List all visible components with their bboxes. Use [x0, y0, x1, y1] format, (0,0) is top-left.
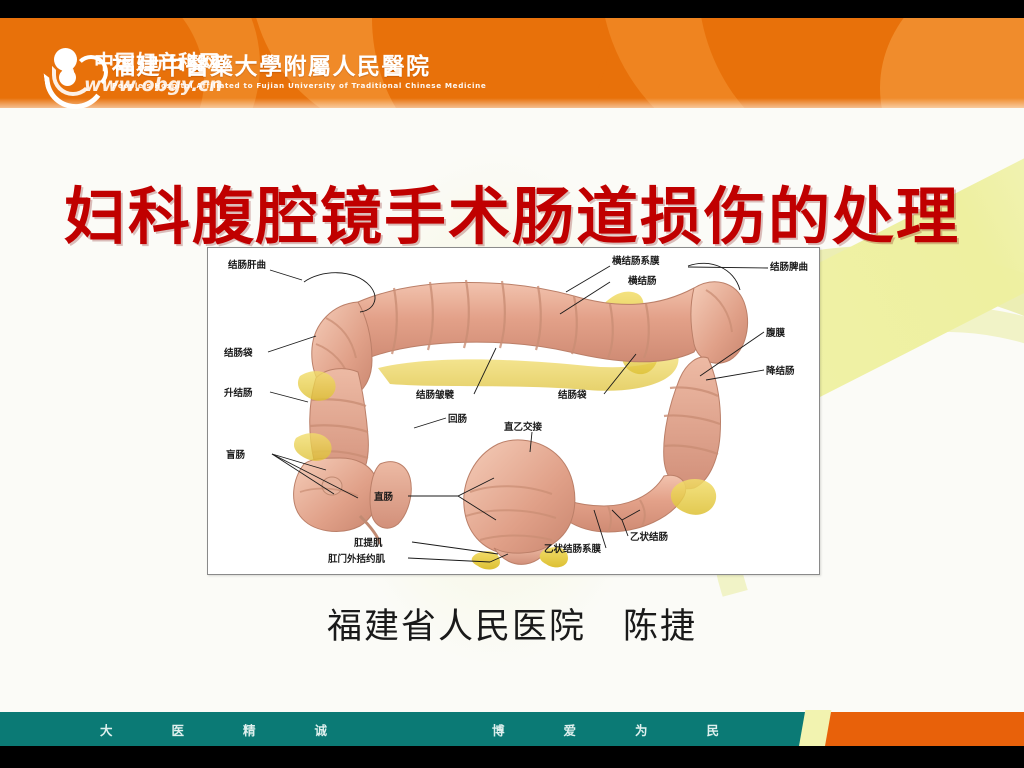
label-levator-ani: 肛提肌 [353, 537, 383, 549]
label-haustra-right: 结肠袋 [557, 389, 587, 401]
label-sigmoid-mesocolon: 乙状结肠系膜 [544, 543, 602, 555]
letterbox-bottom-bar [0, 746, 1024, 768]
large-intestine-anatomy-figure: 结肠肝曲 横结肠系膜 横结肠 结肠脾曲 腹膜 结肠袋 降结肠 升结肠 结肠皱襞 … [207, 247, 820, 575]
motto-char-1: 大 [100, 720, 114, 739]
label-rectum: 直肠 [374, 491, 394, 503]
label-external-anal-sphincter: 肛门外括约肌 [327, 553, 386, 565]
motto-char-3: 精 [243, 720, 257, 739]
label-descending-colon: 降结肠 [766, 365, 795, 377]
hospital-logo-text: 福建中醫藥大學附屬人民醫院 People's Hospital Affiliat… [112, 56, 486, 89]
footer-motto: 大 医 精 诚 博 爱 为 民 [100, 712, 720, 746]
anatomy-illustration: 结肠肝曲 横结肠系膜 横结肠 结肠脾曲 腹膜 结肠袋 降结肠 升结肠 结肠皱襞 … [208, 248, 817, 572]
video-player-frame: 福建中醫藥大學附屬人民醫院 People's Hospital Affiliat… [0, 0, 1024, 768]
label-transverse-mesocolon: 横结肠系膜 [612, 255, 660, 267]
letterbox-top-bar [0, 0, 1024, 18]
label-transverse-colon: 横结肠 [628, 275, 657, 287]
motto-char-6: 爱 [563, 720, 577, 739]
header-swirl-7 [880, 18, 1024, 108]
hospital-logo-block: 福建中醫藥大學附屬人民醫院 People's Hospital Affiliat… [44, 45, 486, 101]
motto-char-8: 民 [706, 720, 720, 739]
label-haustra-left: 结肠袋 [223, 347, 253, 359]
label-hepatic-flexure: 结肠肝曲 [227, 259, 266, 271]
motto-char-7: 为 [635, 720, 649, 739]
hospital-person-logo-icon [44, 47, 108, 99]
hospital-name-en: People's Hospital Affiliated to Fujian U… [112, 82, 486, 89]
label-peritoneum: 腹膜 [765, 327, 786, 339]
label-rectosigmoid-junction: 直乙交接 [504, 421, 543, 433]
label-sigmoid-colon: 乙状结肠 [630, 531, 669, 543]
motto-char-5: 博 [492, 720, 506, 739]
motto-char-2: 医 [172, 720, 186, 739]
presentation-slide: 福建中醫藥大學附屬人民醫院 People's Hospital Affiliat… [0, 18, 1024, 746]
label-splenic-flexure: 结肠脾曲 [769, 261, 808, 273]
presenter-line: 福建省人民医院 陈捷 [0, 598, 1024, 649]
footer-orange-bar [812, 712, 1024, 746]
hospital-name-cn: 福建中醫藥大學附屬人民醫院 [112, 56, 486, 79]
motto-char-4: 诚 [315, 720, 329, 739]
slide-footer: 大 医 精 诚 博 爱 为 民 [0, 712, 1024, 746]
label-cecum: 盲肠 [226, 449, 246, 461]
label-semilunar-folds: 结肠皱襞 [415, 389, 455, 401]
slide-title: 妇科腹腔镜手术肠道损伤的处理 [0, 166, 1024, 256]
label-ileum: 回肠 [448, 414, 468, 425]
label-ascending-colon: 升结肠 [224, 387, 253, 399]
